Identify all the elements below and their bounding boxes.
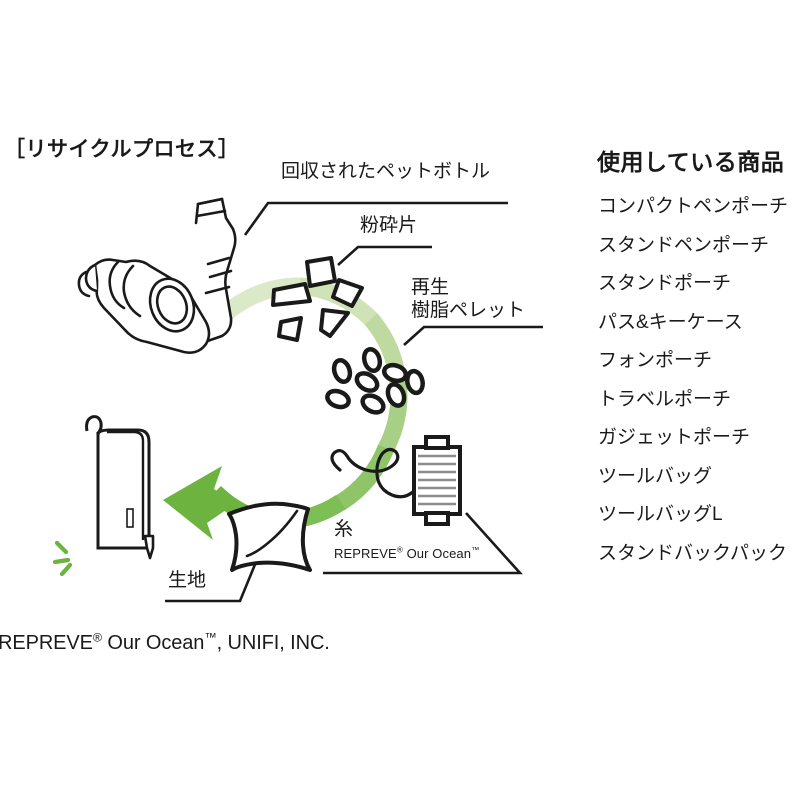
caption-company: , UNIFI, INC. (217, 632, 330, 654)
label-fabric: 生地 (168, 570, 206, 593)
label-collected-bottles: 回収されたペットボトル (281, 161, 490, 184)
products-heading: 使用している商品 (597, 151, 784, 174)
caption-brand-mid: Our Ocean (102, 632, 204, 654)
pet-bottles-icon (79, 199, 235, 353)
resin-pellets-icon (325, 347, 425, 415)
label-shredded-flakes: 粉砕片 (360, 215, 417, 238)
list-item: スタンドポーチ (598, 265, 800, 304)
caption-registered-mark-icon: ® (93, 630, 102, 644)
recycle-process-infographic: ［リサイクルプロセス］ 回収されたペットボトル 粉砕片 再生 樹脂ペレット 糸 … (0, 0, 800, 800)
product-list: コンパクトペンポーチ スタンドペンポーチ スタンドポーチ パス&キーケース フォ… (598, 188, 800, 573)
list-item: パス&キーケース (598, 304, 800, 343)
label-recycled-pellets-line2: 樹脂ペレット (411, 300, 525, 321)
list-item: フォンポーチ (598, 342, 800, 381)
list-item: ツールバッグL (598, 496, 800, 535)
fabric-swatch-icon (229, 504, 310, 570)
label-yarn-brand: REPREVE® Our Ocean™ (334, 546, 479, 562)
label-recycled-pellets: 再生 樹脂ペレット (411, 277, 525, 323)
caption-trademark-mark-icon: ™ (204, 630, 216, 644)
list-item: トラベルポーチ (598, 381, 800, 420)
yarn-brand-mid: Our Ocean (403, 546, 471, 561)
finished-pouch-icon (55, 417, 153, 574)
yarn-brand-name: REPREVE (334, 546, 397, 561)
list-item: スタンドバックパック (598, 535, 800, 574)
list-item: スタンドペンポーチ (598, 227, 800, 266)
list-item: ツールバッグ (598, 458, 800, 497)
thread-spool-icon (332, 437, 460, 524)
plastic-flakes-icon (273, 258, 362, 340)
leader-flakes (338, 247, 432, 265)
page-title: ［リサイクルプロセス］ (4, 139, 239, 160)
list-item: ガジェットポーチ (598, 419, 800, 458)
list-item: コンパクトペンポーチ (598, 188, 800, 227)
caption-brand-name: REPREVE (0, 632, 93, 654)
trademark-mark-icon: ™ (471, 545, 479, 554)
label-yarn-main: 糸 (334, 519, 353, 540)
brand-caption: REPREVE® Our Ocean™, UNIFI, INC. (0, 632, 330, 655)
circular-arrow-icon (163, 286, 399, 540)
leader-pellets (404, 327, 543, 345)
label-recycled-pellets-line1: 再生 (411, 277, 449, 298)
label-yarn: 糸 REPREVE® Our Ocean™ (334, 519, 479, 561)
